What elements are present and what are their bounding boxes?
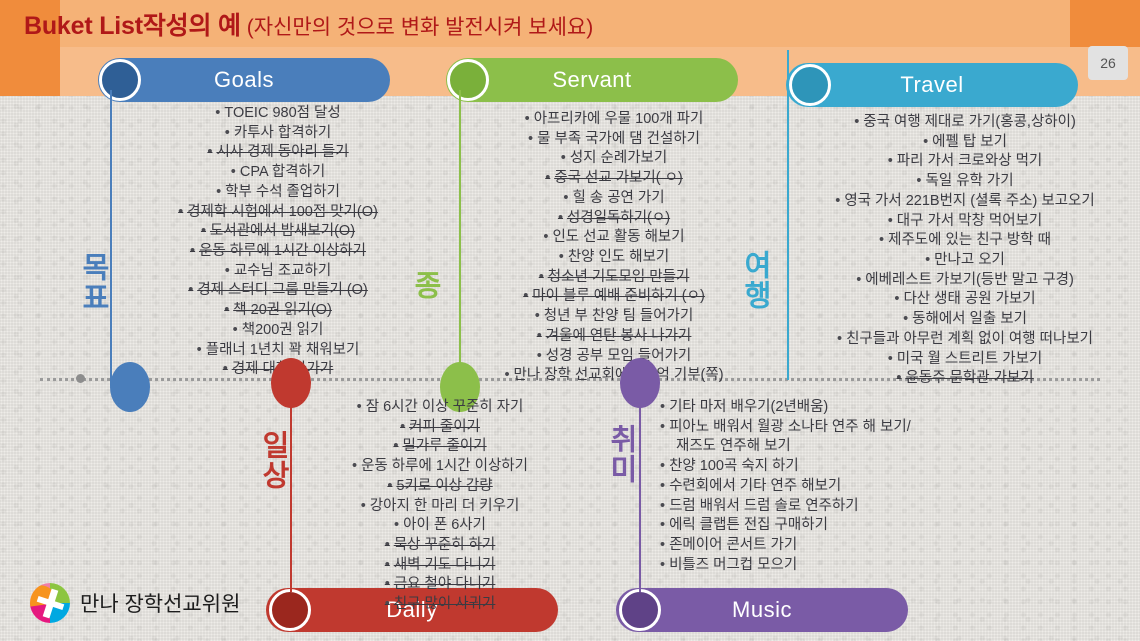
bullet-icon: • bbox=[888, 351, 893, 367]
bullet-icon: • bbox=[225, 263, 230, 279]
bucket-list-item: •친구 많이 사귀기 bbox=[300, 595, 580, 615]
bullet-icon: • bbox=[558, 210, 563, 226]
bucket-list-item: •드럼 배워서 드럼 솔로 연주하기 bbox=[660, 497, 920, 517]
bucket-list-item-text: 대구 가서 막창 먹어보기 bbox=[897, 213, 1043, 229]
bucket-list-item-text: 만나 장학 선교회에 100억 기부(쪽) bbox=[514, 367, 724, 383]
bucket-list-item: •도서관에서 밤새보기(O) bbox=[128, 222, 428, 242]
bucket-list-item-text: 카투사 합격하기 bbox=[234, 125, 331, 141]
bucket-list-item-text: 아프리카에 우물 100개 파기 bbox=[534, 111, 704, 127]
category-pill-label: Travel bbox=[900, 72, 963, 98]
category-vertical-label-goals: 목표 bbox=[78, 252, 107, 312]
bullet-icon: • bbox=[888, 153, 893, 169]
bucket-list-item: •운동 하루에 1시간 이상하기 bbox=[128, 242, 428, 262]
bullet-icon: • bbox=[888, 213, 893, 229]
category-stem-goals bbox=[110, 90, 112, 386]
bullet-icon: • bbox=[660, 498, 665, 514]
bucket-list-item-text: TOEIC 980점 달성 bbox=[224, 105, 340, 121]
bucket-list-item: •제주도에 있는 친구 방학 때 bbox=[800, 231, 1130, 251]
bucket-list-item: •잠 6시간 이상 꾸준히 자기 bbox=[300, 398, 580, 418]
bucket-list-item-text: 기타 마저 배우기(2년배움) bbox=[669, 399, 828, 415]
bullet-icon: • bbox=[523, 288, 528, 304]
bullet-icon: • bbox=[385, 537, 390, 553]
bucket-list-item: •파리 가서 크로와상 먹기 bbox=[800, 152, 1130, 172]
bullet-icon: • bbox=[387, 478, 392, 494]
bullet-icon: • bbox=[660, 517, 665, 533]
item-list-goals: •TOEIC 980점 달성•카투사 합격하기•시사 경제 동아리 들기•CPA… bbox=[128, 104, 428, 380]
page-title-subtitle: (자신만의 것으로 변화 발전시켜 보세요) bbox=[247, 16, 593, 39]
category-knob-servant bbox=[447, 59, 489, 101]
bucket-list-item-text: 금요 철야 다니기 bbox=[394, 576, 495, 592]
bucket-list-item-text: 비틀즈 머그컵 모으기 bbox=[669, 557, 797, 573]
bucket-list-item: •찬양 100곡 숙지 하기 bbox=[660, 457, 920, 477]
bucket-list-item-text: 플래너 1년치 꽉 채워보기 bbox=[206, 342, 360, 358]
bucket-list-item-text: 시사 경제 동아리 들기 bbox=[216, 144, 348, 160]
bullet-icon: • bbox=[660, 399, 665, 415]
bucket-list-item: •에릭 클랩튼 전집 구매하기 bbox=[660, 516, 920, 536]
bucket-list-item-text: 강아지 한 마리 더 키우기 bbox=[370, 498, 520, 514]
bucket-list-item-text: 찬양 100곡 숙지 하기 bbox=[669, 458, 799, 474]
bucket-list-item: •아프리카에 우물 100개 파기 bbox=[466, 110, 762, 130]
bullet-icon: • bbox=[233, 322, 238, 338]
category-pill-goals[interactable]: Goals bbox=[98, 58, 390, 102]
page-number-badge: 26 bbox=[1088, 46, 1128, 80]
bucket-list-item: •성경일독하기(ㅇ) bbox=[466, 209, 762, 229]
bullet-icon: • bbox=[224, 302, 229, 318]
bucket-list-item-text: 커피 줄이기 bbox=[409, 419, 480, 435]
bullet-icon: • bbox=[528, 131, 533, 147]
bucket-list-item: •영국 가서 221B번지 (셜록 주소) 보고오기 bbox=[800, 192, 1130, 212]
bucket-list-item-text: 드럼 배워서 드럼 솔로 연주하기 bbox=[669, 498, 859, 514]
bucket-list-item: •마이 블루 예배 준비하기 (ㅇ) bbox=[466, 287, 762, 307]
bucket-list-item: •밀가루 줄이기 bbox=[300, 437, 580, 457]
bucket-list-item: •다산 생태 공원 가보기 bbox=[800, 290, 1130, 310]
category-pill-servant[interactable]: Servant bbox=[446, 58, 738, 102]
bullet-icon: • bbox=[216, 184, 221, 200]
bucket-list-item: •금요 철야 다니기 bbox=[300, 575, 580, 595]
bullet-icon: • bbox=[660, 458, 665, 474]
bullet-icon: • bbox=[916, 173, 921, 189]
bucket-list-item: •TOEIC 980점 달성 bbox=[128, 104, 428, 124]
bucket-list-item: •교수님 조교하기 bbox=[128, 262, 428, 282]
bullet-icon: • bbox=[837, 331, 842, 347]
bucket-list-item: •중국 여행 제대로 가기(홍콩,상하이) bbox=[800, 113, 1130, 133]
bullet-icon: • bbox=[525, 111, 530, 127]
bucket-list-item: •성경 공부 모임 들어가기 bbox=[466, 347, 762, 367]
bucket-list-item-text: 제주도에 있는 친구 방학 때 bbox=[888, 232, 1051, 248]
category-balloon-music bbox=[620, 358, 660, 408]
bucket-list-item-text: 청소년 기도모임 만들기 bbox=[548, 269, 689, 285]
bullet-icon: • bbox=[660, 419, 665, 435]
bucket-list-item-text: 경제학 시험에서 100점 맞기(O) bbox=[187, 204, 378, 220]
bucket-list-item: •청년 부 찬양 팀 들어가기 bbox=[466, 307, 762, 327]
category-vertical-label-daily: 일상 bbox=[258, 430, 287, 490]
bullet-icon: • bbox=[903, 311, 908, 327]
bucket-list-item-text: 잠 6시간 이상 꾸준히 자기 bbox=[366, 399, 524, 415]
bucket-list-item: •에베레스트 가보기(등반 말고 구경) bbox=[800, 271, 1130, 291]
bucket-list-item: •기타 마저 배우기(2년배움) bbox=[660, 398, 920, 418]
bullet-icon: • bbox=[535, 308, 540, 324]
bullet-icon: • bbox=[545, 170, 550, 186]
bullet-icon: • bbox=[879, 232, 884, 248]
bucket-list-item: •5키로 이상 감량 bbox=[300, 477, 580, 497]
bucket-list-item: •카투사 합격하기 bbox=[128, 124, 428, 144]
bucket-list-item-text: 도서관에서 밤새보기(O) bbox=[210, 223, 355, 239]
bucket-list-item: •수련회에서 기타 연주 해보기 bbox=[660, 477, 920, 497]
bullet-icon: • bbox=[561, 150, 566, 166]
bucket-list-item-text: 만나고 오기 bbox=[934, 252, 1005, 268]
bullet-icon: • bbox=[660, 557, 665, 573]
bullet-icon: • bbox=[923, 134, 928, 150]
item-list-servant: •아프리카에 우물 100개 파기•물 부족 국가에 댐 건설하기•성지 순례가… bbox=[466, 110, 762, 386]
bucket-list-item: •겨울에 연탄 봉사 나가기 bbox=[466, 327, 762, 347]
bucket-list-item-text: 책200권 읽기 bbox=[242, 322, 324, 338]
bullet-icon: • bbox=[385, 596, 390, 612]
bullet-icon: • bbox=[537, 348, 542, 364]
bullet-icon: • bbox=[559, 249, 564, 265]
bucket-list-item: •커피 줄이기 bbox=[300, 418, 580, 438]
bullet-icon: • bbox=[385, 576, 390, 592]
bullet-icon: • bbox=[925, 252, 930, 268]
bucket-list-item: •아이 폰 6사기 bbox=[300, 516, 580, 536]
bucket-list-item-text: 인도 선교 활동 해보기 bbox=[552, 229, 684, 245]
bucket-list-item: •미국 월 스트리트 가보기 bbox=[800, 350, 1130, 370]
bullet-icon: • bbox=[660, 478, 665, 494]
bucket-list-item-text: 성경일독하기(ㅇ) bbox=[567, 210, 670, 226]
bucket-list-item: •운동 하루에 1시간 이상하기 bbox=[300, 457, 580, 477]
bullet-icon: • bbox=[361, 498, 366, 514]
item-list-daily: •잠 6시간 이상 꾸준히 자기•커피 줄이기•밀가루 줄이기•운동 하루에 1… bbox=[300, 398, 580, 615]
bucket-list-item: •책 20권 읽기(O) bbox=[128, 301, 428, 321]
bullet-icon: • bbox=[225, 125, 230, 141]
item-list-travel: •중국 여행 제대로 가기(홍콩,상하이)•에펠 탑 보기•파리 가서 크로와상… bbox=[800, 113, 1130, 389]
category-pill-label: Music bbox=[732, 597, 792, 623]
bucket-list-item: •플래너 1년치 꽉 채워보기 bbox=[128, 341, 428, 361]
bucket-list-item: •책200권 읽기 bbox=[128, 321, 428, 341]
category-knob-music bbox=[619, 589, 661, 631]
item-list-music: •기타 마저 배우기(2년배움)•피아노 배워서 월광 소나타 연주 해 보기/… bbox=[660, 398, 920, 575]
bucket-list-item-text: 파리 가서 크로와상 먹기 bbox=[897, 153, 1043, 169]
bucket-list-item: •독일 유학 가기 bbox=[800, 172, 1130, 192]
bullet-icon: • bbox=[223, 361, 228, 377]
bucket-list-item: •힐 송 공연 가기 bbox=[466, 189, 762, 209]
bullet-icon: • bbox=[385, 557, 390, 573]
page-title: Buket List작성의 예(자신만의 것으로 변화 발전시켜 보세요) bbox=[24, 6, 593, 42]
bucket-list-item-text: 독일 유학 가기 bbox=[925, 173, 1013, 189]
category-vertical-label-travel: 여행 bbox=[740, 250, 769, 310]
category-stem-servant bbox=[459, 90, 461, 386]
bullet-icon: • bbox=[894, 291, 899, 307]
bucket-list-item: •CPA 합격하기 bbox=[128, 163, 428, 183]
bucket-list-item-text: 수련회에서 기타 연주 해보기 bbox=[669, 478, 841, 494]
bucket-list-item-text: 경제 스터디 그룹 만들기 (O) bbox=[197, 282, 367, 298]
bucket-list-item-text: 에베레스트 가보기(등반 말고 구경) bbox=[865, 272, 1074, 288]
bucket-list-item: •인도 선교 활동 해보기 bbox=[466, 228, 762, 248]
bucket-list-item-text: 존메이어 콘서트 가기 bbox=[669, 537, 797, 553]
bullet-icon: • bbox=[188, 282, 193, 298]
bucket-list-item-text: 물 부족 국가에 댐 건설하기 bbox=[537, 131, 700, 147]
bucket-list-item: •시사 경제 동아리 들기 bbox=[128, 143, 428, 163]
bullet-icon: • bbox=[835, 193, 840, 209]
bucket-list-item: •청소년 기도모임 만들기 bbox=[466, 268, 762, 288]
bucket-list-item: •비틀즈 머그컵 모으기 bbox=[660, 556, 920, 576]
bucket-list-item-text: 청년 부 찬양 팀 들어가기 bbox=[544, 308, 694, 324]
bucket-list-item: •강아지 한 마리 더 키우기 bbox=[300, 497, 580, 517]
bucket-list-item: •경제학 시험에서 100점 맞기(O) bbox=[128, 203, 428, 223]
bucket-list-item-text: 찬양 인도 해보기 bbox=[568, 249, 669, 265]
bucket-list-item-text: 운동 하루에 1시간 이상하기 bbox=[199, 243, 366, 259]
page-title-main: Buket List작성의 예 bbox=[24, 12, 241, 40]
bucket-list-item-text: 마이 블루 예배 준비하기 (ㅇ) bbox=[532, 288, 705, 304]
bucket-list-item-text: 윤동주 문학관 가보기 bbox=[905, 370, 1033, 386]
bullet-icon: • bbox=[394, 517, 399, 533]
bucket-list-item: •물 부족 국가에 댐 건설하기 bbox=[466, 130, 762, 150]
bullet-icon: • bbox=[207, 144, 212, 160]
bucket-list-item: •윤동주 문학관 가보기 bbox=[800, 369, 1130, 389]
bucket-list-item: •찬양 인도 해보기 bbox=[466, 248, 762, 268]
bucket-list-item: •학부 수석 졸업하기 bbox=[128, 183, 428, 203]
bucket-list-item-text: 학부 수석 졸업하기 bbox=[225, 184, 340, 200]
bullet-icon: • bbox=[856, 272, 861, 288]
bullet-icon: • bbox=[660, 537, 665, 553]
slide-canvas: Buket List작성의 예(자신만의 것으로 변화 발전시켜 보세요) 26… bbox=[0, 0, 1140, 641]
timeline-start-dot bbox=[76, 374, 85, 383]
bullet-icon: • bbox=[854, 114, 859, 130]
bullet-icon: • bbox=[215, 105, 220, 121]
bullet-icon: • bbox=[178, 204, 183, 220]
bullet-icon: • bbox=[543, 229, 548, 245]
footer-logo-text: 만나 장학선교위원 bbox=[80, 588, 240, 618]
bucket-list-item: •경제 스터디 그룹 만들기 (O) bbox=[128, 281, 428, 301]
bucket-list-item-text: 5키로 이상 감량 bbox=[396, 478, 492, 494]
bucket-list-item: •새벽 기도 다니기 bbox=[300, 556, 580, 576]
header-right-accent bbox=[1070, 0, 1140, 47]
bucket-list-item-text: CPA 합격하기 bbox=[240, 164, 325, 180]
bullet-icon: • bbox=[201, 223, 206, 239]
category-stem-travel bbox=[787, 50, 789, 380]
bucket-list-item-text: 힐 송 공연 가기 bbox=[572, 190, 664, 206]
bucket-list-item-text: 새벽 기도 다니기 bbox=[394, 557, 495, 573]
bullet-icon: • bbox=[190, 243, 195, 259]
bucket-list-item: •만나고 오기 bbox=[800, 251, 1130, 271]
manna-logo-icon bbox=[30, 583, 70, 623]
bucket-list-item: •중국 선교 가보기( ㅇ) bbox=[466, 169, 762, 189]
bucket-list-item: •대구 가서 막창 먹어보기 bbox=[800, 212, 1130, 232]
bucket-list-item: •만나 장학 선교회에 100억 기부(쪽) bbox=[466, 366, 762, 386]
bullet-icon: • bbox=[563, 190, 568, 206]
category-pill-label: Goals bbox=[214, 67, 274, 93]
bucket-list-item-text: 친구 많이 사귀기 bbox=[394, 596, 495, 612]
bucket-list-item-text: 묵상 꾸준히 하기 bbox=[394, 537, 495, 553]
bucket-list-item-text: 에릭 클랩튼 전집 구매하기 bbox=[669, 517, 828, 533]
bullet-icon: • bbox=[357, 399, 362, 415]
category-knob-goals bbox=[99, 59, 141, 101]
bucket-list-item-text: 아이 폰 6사기 bbox=[403, 517, 486, 533]
footer-logo: 만나 장학선교위원 bbox=[30, 583, 240, 623]
bucket-list-item: •존메이어 콘서트 가기 bbox=[660, 536, 920, 556]
bucket-list-item-text: 책 20권 읽기(O) bbox=[233, 302, 331, 318]
bucket-list-item-text: 미국 월 스트리트 가보기 bbox=[897, 351, 1043, 367]
bullet-icon: • bbox=[504, 367, 509, 383]
category-vertical-label-music: 취미 bbox=[606, 424, 635, 484]
category-knob-travel bbox=[789, 64, 831, 106]
bucket-list-item-text: 에펠 탑 보기 bbox=[932, 134, 1007, 150]
bucket-list-item-text: 성경 공부 모임 들어가기 bbox=[546, 348, 692, 364]
bullet-icon: • bbox=[896, 370, 901, 386]
bucket-list-item-text: 피아노 배워서 월광 소나타 연주 해 보기/재즈도 연주해 보기 bbox=[669, 419, 911, 455]
bucket-list-item-text: 교수님 조교하기 bbox=[234, 263, 331, 279]
bullet-icon: • bbox=[393, 438, 398, 454]
bucket-list-item: •친구들과 아무런 계획 없이 여행 떠나보기 bbox=[800, 330, 1130, 350]
bucket-list-item-text: 밀가루 줄이기 bbox=[403, 438, 487, 454]
bucket-list-item: •성지 순례가보기 bbox=[466, 149, 762, 169]
bucket-list-item-text: 운동 하루에 1시간 이상하기 bbox=[361, 458, 528, 474]
bucket-list-item: •피아노 배워서 월광 소나타 연주 해 보기/재즈도 연주해 보기 bbox=[660, 418, 920, 457]
bucket-list-item-text: 영국 가서 221B번지 (셜록 주소) 보고오기 bbox=[844, 193, 1094, 209]
bucket-list-item-text: 동해에서 일출 보기 bbox=[912, 311, 1027, 327]
bucket-list-item-text: 중국 여행 제대로 가기(홍콩,상하이) bbox=[863, 114, 1076, 130]
category-vertical-label-servant: 종 bbox=[410, 270, 439, 300]
bullet-icon: • bbox=[231, 164, 236, 180]
bullet-icon: • bbox=[197, 342, 202, 358]
bucket-list-item: •에펠 탑 보기 bbox=[800, 133, 1130, 153]
bucket-list-item-text: 겨울에 연탄 봉사 나가기 bbox=[546, 328, 692, 344]
category-pill-label: Servant bbox=[552, 67, 631, 93]
bullet-icon: • bbox=[352, 458, 357, 474]
bucket-list-item-text: 성지 순례가보기 bbox=[570, 150, 667, 166]
bullet-icon: • bbox=[537, 328, 542, 344]
bucket-list-item-text: 다산 생태 공원 가보기 bbox=[903, 291, 1035, 307]
bullet-icon: • bbox=[539, 269, 544, 285]
bucket-list-item: •묵상 꾸준히 하기 bbox=[300, 536, 580, 556]
bucket-list-item-text: 중국 선교 가보기( ㅇ) bbox=[554, 170, 682, 186]
bullet-icon: • bbox=[400, 419, 405, 435]
bucket-list-item-text: 친구들과 아무런 계획 없이 여행 떠나보기 bbox=[846, 331, 1093, 347]
bucket-list-item: •동해에서 일출 보기 bbox=[800, 310, 1130, 330]
